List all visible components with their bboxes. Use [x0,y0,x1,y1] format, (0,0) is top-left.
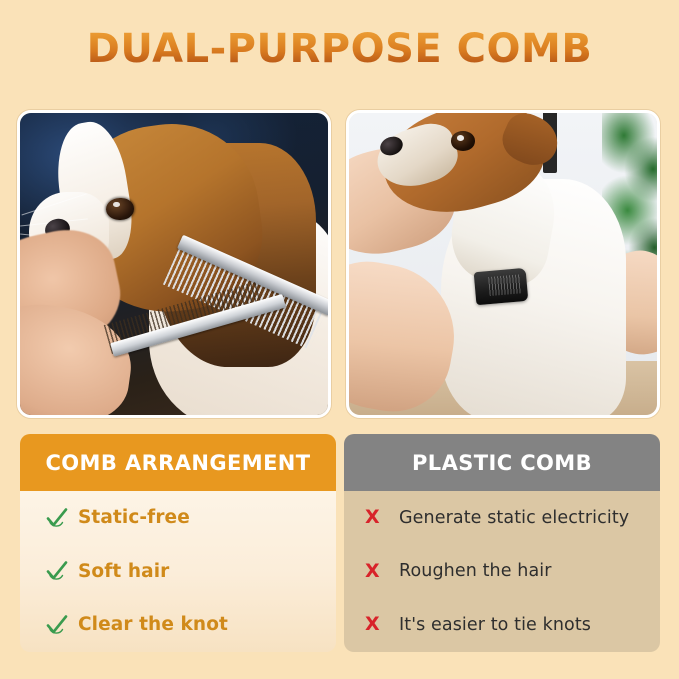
list-item: X It's easier to tie knots [344,598,660,652]
panel-header-label: PLASTIC COMB [412,451,592,475]
plastic-comb [474,268,529,306]
list-item-label: Generate static electricity [399,508,629,528]
x-icon-glyph: X [365,562,380,581]
x-icon: X [365,615,399,634]
comparison-panel-plastic-comb: PLASTIC COMB X Generate static electrici… [344,434,660,652]
list-item: Static-free [20,491,336,545]
check-icon [44,613,78,637]
list-item-label: Clear the knot [78,614,228,635]
list-item: Soft hair [20,545,336,599]
panel-header-plastic-comb: PLASTIC COMB [344,434,660,491]
panel-header-label: COMB ARRANGEMENT [45,451,310,475]
comparison-panel-comb-arrangement: COMB ARRANGEMENT Static-free [20,434,336,652]
list-item: Clear the knot [20,598,336,652]
infographic-page: DUAL-PURPOSE COMB [0,0,679,679]
photo-plastic-comb-terrier [346,110,660,418]
x-icon: X [365,562,399,581]
x-icon: X [365,508,399,527]
page-title-container: DUAL-PURPOSE COMB [0,26,679,72]
photo-metal-comb-papillon [17,110,331,418]
x-icon-glyph: X [365,615,380,634]
check-icon [44,559,78,583]
panel-body-plastic-comb: X Generate static electricity X Roughen … [344,491,660,652]
panel-header-comb-arrangement: COMB ARRANGEMENT [20,434,336,491]
x-icon-glyph: X [365,508,380,527]
panel-body-comb-arrangement: Static-free Soft hair [20,491,336,652]
page-title: DUAL-PURPOSE COMB [87,26,593,72]
list-item: X Generate static electricity [344,491,660,545]
dog-eye [106,198,134,221]
check-icon [44,506,78,530]
list-item-label: Static-free [78,507,190,528]
list-item-label: Roughen the hair [399,561,552,581]
dog-eye [451,131,476,151]
list-item: X Roughen the hair [344,545,660,599]
list-item-label: It's easier to tie knots [399,615,591,635]
list-item-label: Soft hair [78,561,169,582]
